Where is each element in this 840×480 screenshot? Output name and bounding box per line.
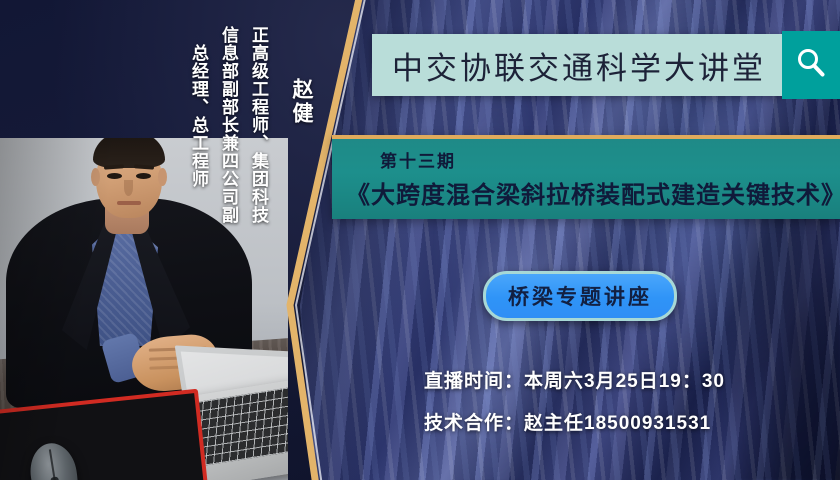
photo-mouth [117,201,141,205]
webinar-poster: 中交协联交通科学大讲堂 第十三期 《大跨度混合梁斜拉桥装配式建造关键技术》 赵健… [0,0,840,480]
speaker-photo [0,138,288,480]
contact-text: 技术合作：赵主任18500931531 [424,408,711,435]
topic-badge-label: 桥梁专题讲座 [508,281,652,311]
search-button[interactable] [782,31,840,99]
episode-label: 第十三期 [380,147,456,172]
photo-eye-left [107,173,122,179]
topic-title: 《大跨度混合梁斜拉桥装配式建造关键技术》 [346,175,840,210]
photo-nose [124,180,133,196]
speaker-title-line-3: 总经理、总工程师 [186,44,211,188]
photo-ear-left [91,168,100,186]
search-icon [794,46,828,85]
photo-ear-right [158,168,167,186]
speaker-name: 赵健 [286,78,316,126]
subtitle-band: 第十三期 《大跨度混合梁斜拉桥装配式建造关键技术》 [332,135,840,219]
main-title-banner: 中交协联交通科学大讲堂 [372,34,782,96]
photo-eye-right [136,173,151,179]
speaker-title-line-2: 信息部副部长兼四公司副 [216,26,241,224]
speaker-title-line-1: 正高级工程师、集团科技 [246,26,271,224]
topic-badge[interactable]: 桥梁专题讲座 [483,271,677,321]
photo-hair [93,138,165,168]
live-time-text: 直播时间：本周六3月25日19：30 [424,366,725,393]
page-title: 中交协联交通科学大讲堂 [372,43,766,88]
